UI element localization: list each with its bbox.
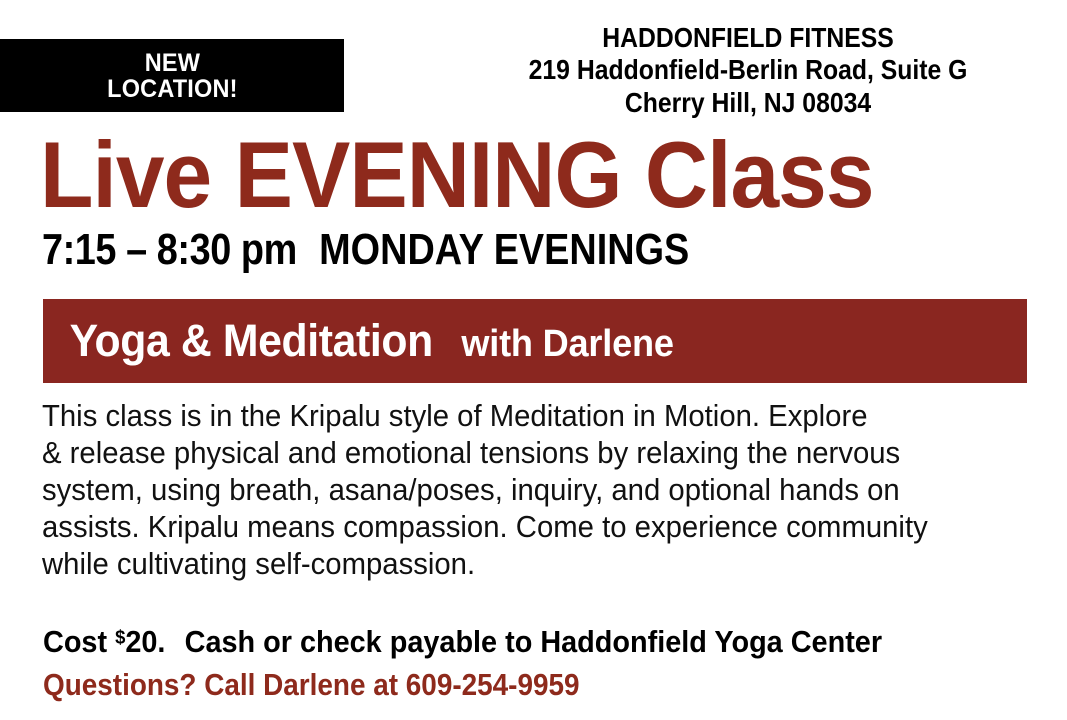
description-line: This class is in the Kripalu style of Me… — [42, 397, 987, 434]
venue-street: 219 Haddonfield-Berlin Road, Suite G — [498, 54, 998, 86]
cost-payment-note: Cash or check payable to Haddonfield Yog… — [185, 624, 882, 659]
venue-address-block: HADDONFIELD FITNESS 219 Haddonfield-Berl… — [470, 22, 1026, 119]
schedule-row: 7:15 – 8:30 pmMONDAY EVENINGS — [42, 228, 689, 272]
header-row: NEW LOCATION! HADDONFIELD FITNESS 219 Ha… — [0, 0, 1067, 120]
description-line: & release physical and emotional tension… — [42, 434, 987, 471]
class-banner-inner: Yoga & Meditationwith Darlene — [43, 315, 674, 367]
venue-name: HADDONFIELD FITNESS — [498, 22, 998, 54]
venue-city-state-zip: Cherry Hill, NJ 08034 — [498, 87, 998, 119]
schedule-days: MONDAY EVENINGS — [319, 225, 689, 274]
cost-line: Cost $20. Cash or check payable to Haddo… — [43, 626, 882, 657]
contact-line: Questions? Call Darlene at 609-254-9959 — [43, 669, 580, 700]
cost-amount: 20. — [125, 624, 165, 659]
new-location-badge: NEW LOCATION! — [0, 39, 344, 112]
class-title: Yoga & Meditation — [70, 315, 433, 366]
description-line: while cultivating self-compassion. — [42, 545, 987, 582]
description-line: system, using breath, asana/poses, inqui… — [42, 471, 987, 508]
schedule-time: 7:15 – 8:30 pm — [42, 225, 297, 274]
class-description: This class is in the Kripalu style of Me… — [42, 397, 1042, 582]
currency-symbol: $ — [115, 627, 125, 649]
cost-label: Cost — [43, 624, 107, 659]
badge-line-new: NEW — [144, 50, 199, 76]
class-instructor: with Darlene — [461, 323, 673, 365]
class-banner: Yoga & Meditationwith Darlene — [43, 299, 1027, 383]
page-title: Live EVENING Class — [40, 128, 874, 222]
badge-line-location: LOCATION! — [107, 76, 237, 102]
description-line: assists. Kripalu means compassion. Come … — [42, 508, 987, 545]
